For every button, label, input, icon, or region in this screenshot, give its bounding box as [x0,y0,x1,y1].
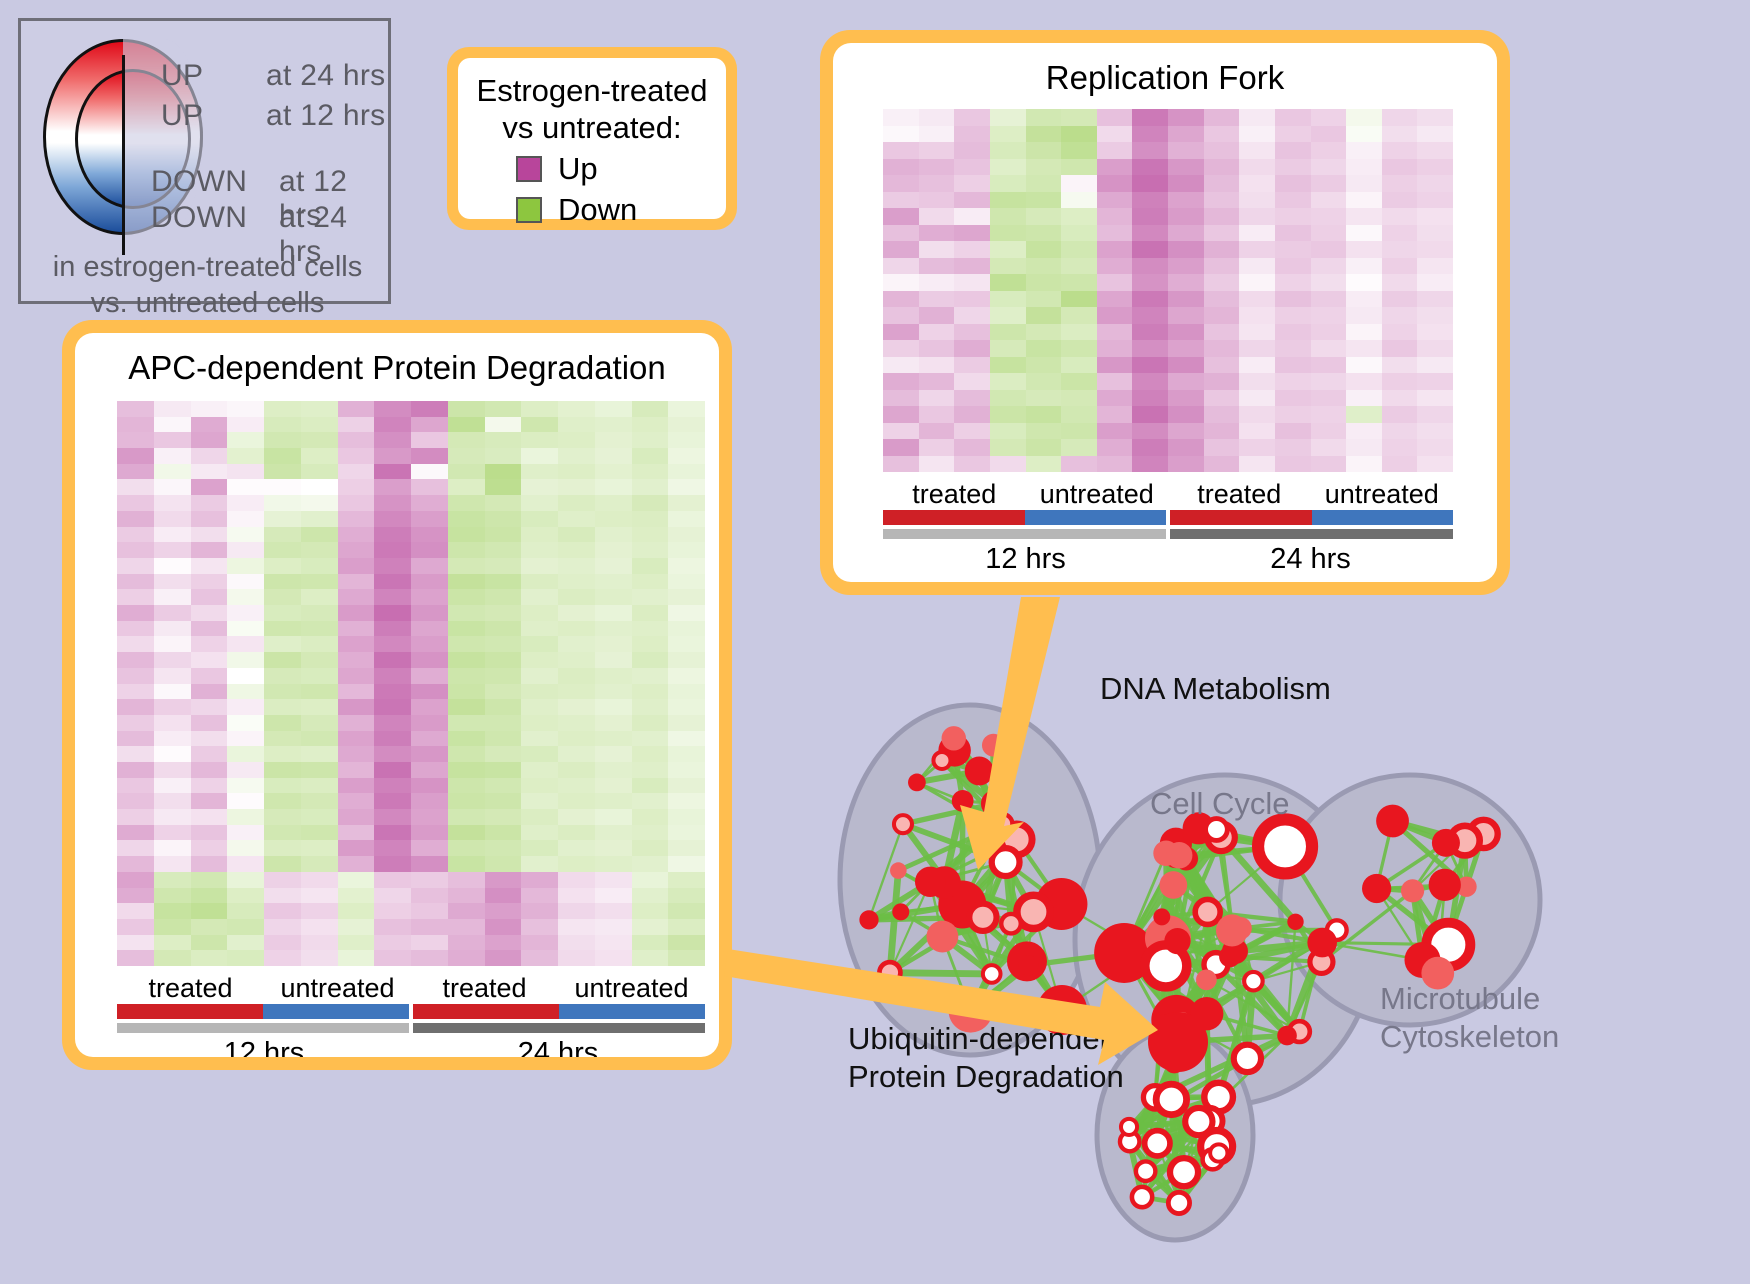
heatmap-cell [1239,324,1275,341]
heatmap-cell [1417,225,1453,242]
heatmap-cell [374,746,411,762]
heatmap-cell [595,558,632,574]
heatmap-cell [264,746,301,762]
heatmap-cell [264,888,301,904]
heatmap-cell [1417,159,1453,176]
heatmap-cell [338,448,375,464]
heatmap-cell [668,589,705,605]
heatmap-cell [191,825,228,841]
group-color-segment [1025,510,1171,525]
heatmap-cell [1026,324,1062,341]
heatmap-cell [227,903,264,919]
heatmap-cell [1239,357,1275,374]
heatmap-cell [154,793,191,809]
heatmap-cell [632,589,669,605]
heatmap-cell [1275,406,1311,423]
heatmap-cell [954,192,990,209]
heatmap-cell [521,840,558,856]
heatmap-cell [954,423,990,440]
heatmap-cell [521,432,558,448]
heatmap-cell [1417,109,1453,126]
heatmap-cell [485,527,522,543]
heatmap-cell [595,746,632,762]
heatmap-cell [1026,340,1062,357]
network-node [1164,928,1190,954]
updown-legend-box: Estrogen-treated vs untreated: Up Down [447,47,737,230]
heatmap-cell [485,903,522,919]
heatmap-cell [1239,175,1275,192]
heatmap-cell [411,793,448,809]
heatmap-cell [1417,373,1453,390]
heatmap-cell [1239,258,1275,275]
heatmap-cell [374,668,411,684]
heatmap-cell [448,935,485,951]
heatmap-cell [154,715,191,731]
heatmap-cell [883,225,919,242]
legend-time-up-12: at 12 hrs [266,99,385,133]
heatmap-cell [1311,357,1347,374]
heatmap-cell [1204,307,1240,324]
heatmap-cell [558,479,595,495]
panel-apc-inner: APC-dependent Protein Degradation treate… [75,333,719,1057]
heatmap-cell [632,511,669,527]
heatmap-cell [1097,274,1133,291]
heatmap-cell [264,935,301,951]
heatmap-cell [374,731,411,747]
heatmap-cell [595,401,632,417]
heatmap-cell [1204,291,1240,308]
heatmap-cell [883,390,919,407]
heatmap-cell [521,558,558,574]
heatmap-cell [448,589,485,605]
heatmap-cell [411,778,448,794]
heatmap-cell [1168,373,1204,390]
group-labels-rep: treateduntreatedtreateduntreated [883,479,1453,510]
heatmap-cell [1346,208,1382,225]
heatmap-cell [883,126,919,143]
heatmap-cell [521,652,558,668]
group-label: untreated [558,973,705,1004]
heatmap-cell [374,888,411,904]
heatmap-cell [1382,340,1418,357]
heatmap-cell [301,432,338,448]
heatmap-cell [1382,142,1418,159]
heatmap-cell [1346,390,1382,407]
heatmap-cell [1026,390,1062,407]
heatmap-cell [1061,456,1097,473]
heatmap-cell [374,621,411,637]
heatmap-cell [1311,225,1347,242]
heatmap-cell [1239,225,1275,242]
network-node [1136,1161,1155,1180]
heatmap-cell [411,731,448,747]
heatmap-cell [1275,423,1311,440]
heatmap-cell [990,142,1026,159]
heatmap-cell [521,668,558,684]
heatmap-cell [411,652,448,668]
heatmap-cell [595,825,632,841]
heatmap-cell [595,809,632,825]
heatmap-cell [227,825,264,841]
heatmap-cell [990,390,1026,407]
heatmap-cell [558,605,595,621]
heatmap-cell [154,856,191,872]
heatmap-cell [448,605,485,621]
heatmap-cell [154,417,191,433]
heatmap-cell [1204,274,1240,291]
heatmap-cell [191,731,228,747]
heatmap-cell [301,809,338,825]
heatmap-cell [301,417,338,433]
group-color-segment [263,1004,413,1019]
heatmap-cell [485,621,522,637]
network-node [933,752,950,769]
heatmap-cell [668,903,705,919]
heatmap-cell [191,417,228,433]
heatmap-cell [883,357,919,374]
label-dna-metabolism: DNA Metabolism [1100,670,1331,708]
heatmap-cell [558,574,595,590]
heatmap-cell [264,511,301,527]
heatmap-cell [954,175,990,192]
heatmap-cell [632,950,669,966]
heatmap-cell [411,919,448,935]
heatmap-cell [191,558,228,574]
heatmap-cell [448,511,485,527]
heatmap-cell [632,715,669,731]
heatmap-cell [1204,175,1240,192]
heatmap-cell [1382,175,1418,192]
heatmap-cell [668,558,705,574]
heatmap-cell [191,448,228,464]
heatmap-cell [448,856,485,872]
heatmap-cell [411,511,448,527]
heatmap-cell [521,636,558,652]
heatmap-cell [668,762,705,778]
heatmap-cell [668,919,705,935]
heatmap-cell [558,746,595,762]
heatmap-cell [595,464,632,480]
heatmap-cell [1346,423,1382,440]
heatmap-cell [595,888,632,904]
heatmap-cell [411,417,448,433]
heatmap-cell [990,423,1026,440]
heatmap-cell [919,192,955,209]
heatmap-cell [1026,159,1062,176]
heatmap-cell [632,432,669,448]
time-color-segment [1170,529,1453,539]
heatmap-cell [485,684,522,700]
label-ubiquitin-dependent: Ubiquitin-dependent [848,1020,1126,1058]
heatmap-cell [990,258,1026,275]
heatmap-cell [117,574,154,590]
heatmap-cell [191,636,228,652]
heatmap-cell [301,464,338,480]
time-color-bar-apc [117,1023,705,1033]
heatmap-cell [338,401,375,417]
heatmap-cell [1026,126,1062,143]
heatmap-cell [1204,324,1240,341]
heatmap-cell [117,401,154,417]
heatmap-cell [595,511,632,527]
heatmap-cell [154,903,191,919]
heatmap-cell [558,684,595,700]
heatmap-cell [301,589,338,605]
heatmap-cell [1239,126,1275,143]
heatmap-cell [264,903,301,919]
network-node [1234,1045,1261,1072]
heatmap-cell [411,574,448,590]
heatmap-cell [1275,126,1311,143]
heatmap-cell [1239,439,1275,456]
heatmap-cell [1061,390,1097,407]
group-label: treated [117,973,264,1004]
time-color-segment [413,1023,705,1033]
heatmap-cell [632,762,669,778]
heatmap-cell [301,793,338,809]
heatmap-cell [117,935,154,951]
heatmap-cell [558,401,595,417]
heatmap-cell [411,699,448,715]
heatmap-cell [632,574,669,590]
heatmap-cell [1382,324,1418,341]
heatmap-cell [411,856,448,872]
heatmap-cell [1239,241,1275,258]
heatmap-cell [521,888,558,904]
heatmap-cell [521,542,558,558]
heatmap-cell [338,762,375,778]
heatmap-cell [632,668,669,684]
heatmap-cell [521,950,558,966]
heatmap-cell [1204,241,1240,258]
heatmap-cell [301,448,338,464]
network-node [1429,869,1461,901]
heatmap-cell [485,464,522,480]
heatmap-cell [154,621,191,637]
heatmap-cell [919,324,955,341]
heatmap-cell [668,448,705,464]
heatmap-cell [411,684,448,700]
heatmap-cell [264,872,301,888]
heatmap-cell [227,448,264,464]
heatmap-cell [1382,357,1418,374]
heatmap-cell [521,401,558,417]
heatmap-cell [919,390,955,407]
heatmap-cell [117,699,154,715]
network-node [1185,1108,1212,1135]
heatmap-cell [1132,340,1168,357]
heatmap-cell [264,840,301,856]
heatmap-cell [558,778,595,794]
heatmap-cell [919,159,955,176]
heatmap-cell [595,715,632,731]
heatmap-cell [954,307,990,324]
heatmap-cell [374,479,411,495]
heatmap-cell [338,589,375,605]
heatmap-cell [338,652,375,668]
heatmap-cell [227,872,264,888]
heatmap-cell [154,542,191,558]
heatmap-cell [411,479,448,495]
heatmap-cell [338,495,375,511]
heatmap-cell [448,809,485,825]
heatmap-cell [919,307,955,324]
time-color-bar-rep [883,529,1453,539]
heatmap-cell [595,778,632,794]
heatmap-cell [558,888,595,904]
heatmap-cell [1061,423,1097,440]
heatmap-cell [595,840,632,856]
heatmap-cell [448,621,485,637]
heatmap-cell [338,746,375,762]
label-microtubule: Microtubule [1380,980,1559,1018]
heatmap-cell [117,542,154,558]
heatmap-cell [1417,208,1453,225]
heatmap-cell [264,699,301,715]
heatmap-replication-fork [883,109,1453,472]
heatmap-cell [883,423,919,440]
heatmap-cell [883,456,919,473]
heatmap-cell [668,699,705,715]
heatmap-cell [1132,225,1168,242]
heatmap-cell [1417,324,1453,341]
heatmap-cell [117,527,154,543]
network-node [1160,871,1188,899]
heatmap-cell [154,888,191,904]
heatmap-cell [1168,340,1204,357]
heatmap-cell [668,417,705,433]
heatmap-cell [1275,456,1311,473]
heatmap-cell [301,778,338,794]
heatmap-cell [154,809,191,825]
heatmap-cell [117,668,154,684]
heatmap-cell [668,479,705,495]
heatmap-cell [411,840,448,856]
heatmap-cell [374,589,411,605]
heatmap-cell [990,208,1026,225]
heatmap-cell [558,840,595,856]
heatmap-cell [1275,225,1311,242]
heatmap-cell [668,731,705,747]
heatmap-cell [595,668,632,684]
heatmap-cell [411,950,448,966]
heatmap-cell [1275,340,1311,357]
network-node [1121,1119,1137,1135]
heatmap-cell [264,809,301,825]
heatmap-cell [1168,192,1204,209]
heatmap-cell [117,652,154,668]
heatmap-cell [227,605,264,621]
heatmap-cell [191,762,228,778]
legend-caption-line2: vs. untreated cells [21,285,394,321]
heatmap-cell [485,715,522,731]
network-node [1166,842,1193,869]
heatmap-cell [595,432,632,448]
heatmap-cell [227,715,264,731]
heatmap-cell [264,527,301,543]
heatmap-cell [374,511,411,527]
heatmap-cell [1346,456,1382,473]
heatmap-cell [374,935,411,951]
heatmap-cell [1311,340,1347,357]
heatmap-cell [1311,390,1347,407]
heatmap-cell [1026,241,1062,258]
heatmap-cell [1311,439,1347,456]
group-color-segment [117,1004,263,1019]
heatmap-cell [1204,423,1240,440]
heatmap-cell [227,746,264,762]
heatmap-cell [374,464,411,480]
heatmap-cell [1097,373,1133,390]
heatmap-cell [154,511,191,527]
heatmap-cell [227,778,264,794]
heatmap-cell [883,241,919,258]
heatmap-cell [1097,390,1133,407]
heatmap-cell [338,574,375,590]
heatmap-cell [521,856,558,872]
heatmap-cell [668,432,705,448]
heatmap-cell [521,809,558,825]
heatmap-cell [1132,159,1168,176]
heatmap-cell [1417,423,1453,440]
heatmap-cell [411,636,448,652]
network-node [1216,914,1248,946]
heatmap-cell [1346,225,1382,242]
heatmap-cell [1239,340,1275,357]
heatmap-cell [485,432,522,448]
heatmap-cell [1132,258,1168,275]
heatmap-cell [521,919,558,935]
heatmap-cell [595,652,632,668]
heatmap-cell [990,439,1026,456]
heatmap-cell [227,950,264,966]
legend-caption: in estrogen-treated cells vs. untreated … [21,249,394,321]
heatmap-cell [595,589,632,605]
heatmap-cell [595,731,632,747]
group-label: treated [883,479,1026,510]
heatmap-cell [1275,274,1311,291]
network-node [1132,1187,1152,1207]
heatmap-cell [1382,423,1418,440]
heatmap-cell [485,589,522,605]
heatmap-cell [154,840,191,856]
heatmap-cell [191,950,228,966]
heatmap-cell [668,401,705,417]
heatmap-cell [1061,192,1097,209]
heatmap-cell [954,208,990,225]
heatmap-cell [1132,291,1168,308]
heatmap-cell [1026,357,1062,374]
heatmap-cell [632,856,669,872]
heatmap-cell [1346,192,1382,209]
heatmap-cell [191,809,228,825]
heatmap-cell [301,950,338,966]
heatmap-cell [191,542,228,558]
heatmap-cell [595,605,632,621]
heatmap-cell [1204,192,1240,209]
heatmap-cell [1132,373,1168,390]
heatmap-cell [668,872,705,888]
heatmap-cell [558,950,595,966]
network-node [1195,899,1220,924]
heatmap-cell [990,159,1026,176]
heatmap-cell [1417,307,1453,324]
heatmap-cell [954,439,990,456]
heatmap-cell [374,950,411,966]
heatmap-cell [117,840,154,856]
heatmap-cell [485,605,522,621]
heatmap-cell [1239,423,1275,440]
